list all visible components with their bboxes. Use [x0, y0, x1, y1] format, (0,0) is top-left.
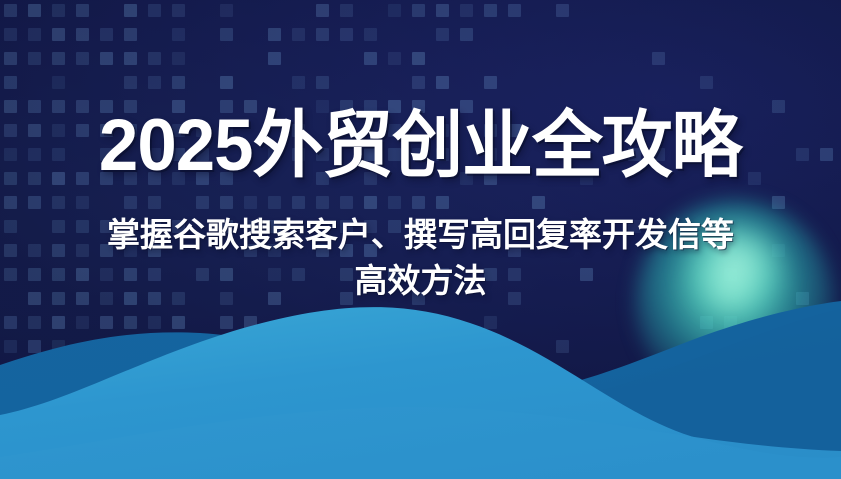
- promo-banner: 2025外贸创业全攻略 掌握谷歌搜索客户、撰写高回复率开发信等 高效方法: [0, 0, 841, 479]
- layered-blue-waves: [0, 289, 841, 479]
